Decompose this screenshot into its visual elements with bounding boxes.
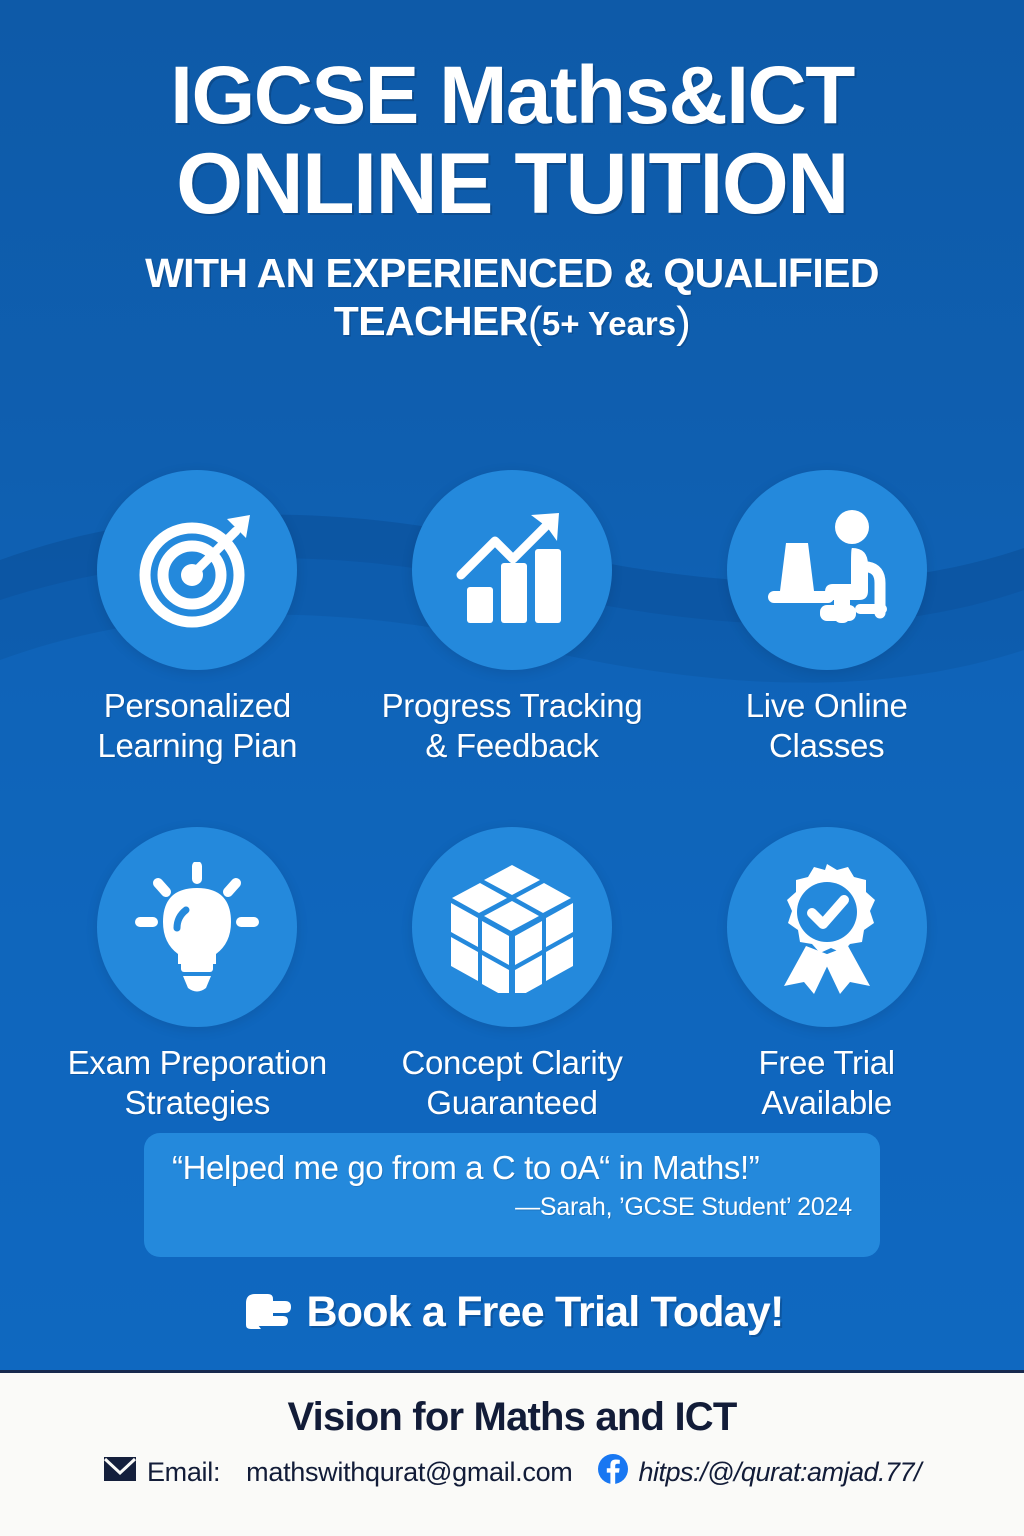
feature-item: Progress Tracking & Feedback bbox=[355, 470, 670, 765]
feature-label: Live Online Classes bbox=[746, 686, 908, 765]
email-address[interactable]: mathswithqurat@gmail.com bbox=[246, 1457, 572, 1488]
envelope-icon bbox=[103, 1456, 137, 1489]
testimonial-card: “Helped me go from a C to oA“ in Maths!”… bbox=[144, 1133, 880, 1257]
lightbulb-icon bbox=[134, 862, 260, 992]
poster-title-line2: ONLINE TUITION bbox=[0, 142, 1024, 226]
brand-name: Vision for Maths and ICT bbox=[0, 1395, 1024, 1440]
feature-item: Personalized Learning Pian bbox=[40, 470, 355, 765]
feature-label: Free Trial Available bbox=[758, 1043, 894, 1122]
feature-icon-badge bbox=[97, 470, 297, 670]
cta-banner[interactable]: Book a Free Trial Today! bbox=[0, 1287, 1024, 1338]
subtitle-paren-open: ( bbox=[528, 298, 542, 347]
target-arrow-icon bbox=[132, 505, 262, 635]
subtitle-line1: WITH AN EXPERIENCED & QUALIFIED bbox=[145, 250, 879, 296]
feature-item: Free Trial Available bbox=[669, 827, 984, 1122]
facebook-icon[interactable] bbox=[598, 1454, 628, 1491]
growth-chart-icon bbox=[447, 505, 577, 635]
pointing-hand-icon bbox=[240, 1287, 292, 1338]
feature-icon-badge bbox=[727, 827, 927, 1027]
feature-label: Exam Preporation Strategies bbox=[68, 1043, 327, 1122]
testimonial-quote: “Helped me go from a C to oA“ in Maths!” bbox=[172, 1149, 852, 1187]
poster-root: IGCSE Maths&ICT ONLINE TUITION WITH AN E… bbox=[0, 0, 1024, 1536]
subtitle-teacher: TEACHER bbox=[334, 298, 528, 344]
feature-label: Personalized Learning Pian bbox=[97, 686, 297, 765]
testimonial-attribution: —Sarah, ’GCSE Student’ 2024 bbox=[172, 1193, 852, 1222]
cube-blocks-icon bbox=[448, 861, 576, 993]
email-label: Email: bbox=[147, 1457, 220, 1488]
contact-row: Email: mathswithqurat@gmail.com hitps:/@… bbox=[0, 1454, 1024, 1491]
feature-item: Exam Preporation Strategies bbox=[40, 827, 355, 1122]
feature-label: Concept Clarity Guaranteed bbox=[401, 1043, 622, 1122]
feature-item: Concept Clarity Guaranteed bbox=[355, 827, 670, 1122]
subtitle-paren-close: ) bbox=[676, 298, 690, 347]
poster-title-line1: IGCSE Maths&ICT bbox=[0, 56, 1024, 136]
footer: Vision for Maths and ICT Email: mathswit… bbox=[0, 1370, 1024, 1536]
feature-icon-badge bbox=[412, 827, 612, 1027]
hero-section: IGCSE Maths&ICT ONLINE TUITION WITH AN E… bbox=[0, 56, 1024, 349]
feature-icon-badge bbox=[97, 827, 297, 1027]
social-handle[interactable]: hitps:/@/qurat:amjad.77/ bbox=[638, 1457, 921, 1488]
subtitle-experience-years: 5+ Years bbox=[542, 305, 676, 342]
feature-label: Progress Tracking & Feedback bbox=[382, 686, 643, 765]
feature-icon-badge bbox=[412, 470, 612, 670]
feature-item: Live Online Classes bbox=[669, 470, 984, 765]
feature-icon-badge bbox=[727, 470, 927, 670]
poster-subtitle: WITH AN EXPERIENCED & QUALIFIED TEACHER(… bbox=[0, 249, 1024, 349]
feature-grid: Personalized Learning Pian Progress Trac… bbox=[40, 470, 984, 1122]
person-laptop-icon bbox=[760, 505, 894, 635]
award-ribbon-check-icon bbox=[762, 860, 892, 994]
cta-text: Book a Free Trial Today! bbox=[306, 1288, 783, 1337]
